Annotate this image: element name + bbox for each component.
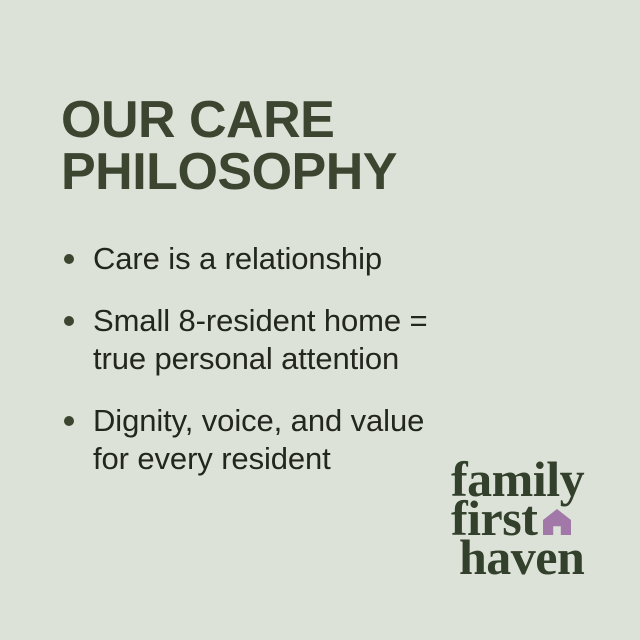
bullet-dot-icon bbox=[64, 416, 74, 426]
page-title-line-2: PHILOSOPHY bbox=[61, 146, 581, 198]
list-item-text: Small 8-resident home = true personal at… bbox=[93, 302, 531, 378]
list-item-text: Care is a relationship bbox=[93, 240, 531, 278]
list-item: Small 8-resident home = true personal at… bbox=[61, 302, 531, 378]
bullet-dot-icon bbox=[64, 254, 74, 264]
page-title: OUR CARE PHILOSOPHY bbox=[61, 94, 581, 198]
page-title-line-1: OUR CARE bbox=[61, 94, 581, 146]
list-item: Care is a relationship bbox=[61, 240, 531, 278]
bullet-dot-icon bbox=[64, 316, 74, 326]
logo-word-haven: haven bbox=[459, 538, 591, 577]
social-card-canvas: OUR CARE PHILOSOPHY Care is a relationsh… bbox=[0, 0, 640, 640]
philosophy-bullet-list: Care is a relationship Small 8-resident … bbox=[61, 240, 531, 478]
brand-logo: family first haven bbox=[451, 460, 591, 577]
